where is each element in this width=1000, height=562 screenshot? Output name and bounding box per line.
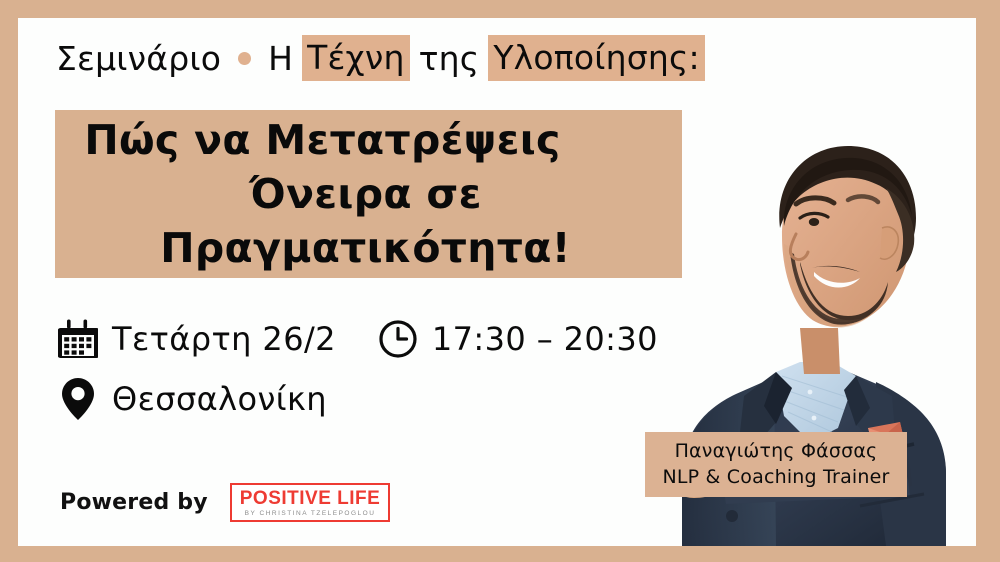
header-kicker: Σεμινάριο <box>56 37 221 80</box>
header-middle: της <box>419 37 480 80</box>
title-line-2: Όνειρα σε Πραγματικότητα! <box>49 167 682 275</box>
title-line-1: Πώς να Μετατρέψεις <box>84 113 560 167</box>
header-line: Σεμινάριο Η Τέχνη της Υλοποίησης: <box>56 35 705 81</box>
detail-row-datetime: Τετάρτη 26/2 17:30 – 20:30 <box>58 318 658 360</box>
header-highlight-2: Υλοποίησης: <box>488 35 705 81</box>
speaker-name: Παναγιώτης Φάσσας <box>675 439 878 465</box>
detail-time: 17:30 – 20:30 <box>378 319 658 359</box>
detail-location: Θεσσαλονίκη <box>58 376 327 422</box>
clock-icon <box>378 319 418 359</box>
positive-life-logo[interactable]: POSITIVE LIFE BY CHRISTINA TZELEPOGLOU <box>230 483 391 523</box>
event-details: Τετάρτη 26/2 17:30 – 20:30 <box>58 318 658 438</box>
calendar-icon <box>58 318 98 360</box>
speaker-name-box: Παναγιώτης Φάσσας NLP & Coaching Trainer <box>645 432 907 497</box>
bullet-dot-icon <box>238 52 251 65</box>
speaker-role: NLP & Coaching Trainer <box>662 465 889 491</box>
map-pin-icon <box>58 376 98 422</box>
detail-row-location: Θεσσαλονίκη <box>58 376 658 422</box>
page-title: Πώς να Μετατρέψεις Όνειρα σε Πραγματικότ… <box>55 110 682 278</box>
powered-by: Powered by POSITIVE LIFE BY CHRISTINA TZ… <box>60 483 390 523</box>
logo-main-text: POSITIVE LIFE <box>240 489 381 508</box>
detail-location-text: Θεσσαλονίκη <box>112 380 327 418</box>
header-prefix: Η <box>268 37 293 80</box>
detail-date-text: Τετάρτη 26/2 <box>112 320 336 358</box>
powered-by-label: Powered by <box>60 490 208 515</box>
header-highlight-1: Τέχνη <box>302 35 409 81</box>
detail-date: Τετάρτη 26/2 <box>58 318 336 360</box>
logo-sub-text: BY CHRISTINA TZELEPOGLOU <box>240 511 381 518</box>
seminar-poster: Σεμινάριο Η Τέχνη της Υλοποίησης: Πώς να… <box>0 0 1000 562</box>
poster-inner-canvas: Σεμινάριο Η Τέχνη της Υλοποίησης: Πώς να… <box>18 18 976 546</box>
